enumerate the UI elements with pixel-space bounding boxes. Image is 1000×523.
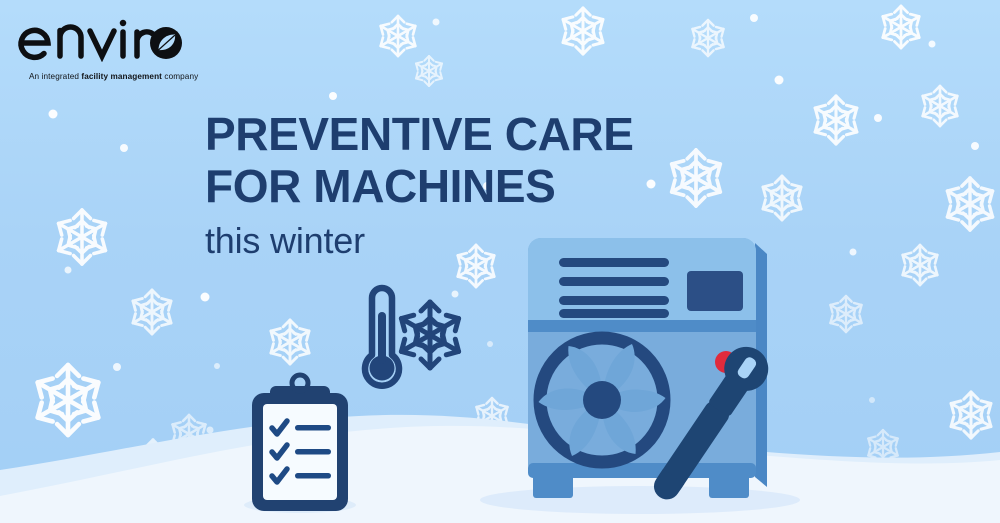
checklist-clipboard xyxy=(244,375,356,513)
thermometer-snowflake-icon xyxy=(365,288,463,386)
machine-shadow xyxy=(480,486,800,514)
clipboard-ring xyxy=(292,375,308,391)
machine-base-band xyxy=(528,463,756,478)
machine-vent xyxy=(559,309,669,318)
fan-hub xyxy=(583,381,621,419)
machine-vent xyxy=(559,258,669,267)
illustration-layer xyxy=(0,0,1000,523)
machine-divider-band xyxy=(528,320,756,332)
winter-maintenance-banner: An integrated facility management compan… xyxy=(0,0,1000,523)
thermometer-icon xyxy=(365,288,399,386)
machine-vent xyxy=(559,277,669,286)
machine-vent xyxy=(559,296,669,305)
thermometer-snowflake-glyph xyxy=(397,302,463,368)
machine-display-panel xyxy=(687,271,743,311)
